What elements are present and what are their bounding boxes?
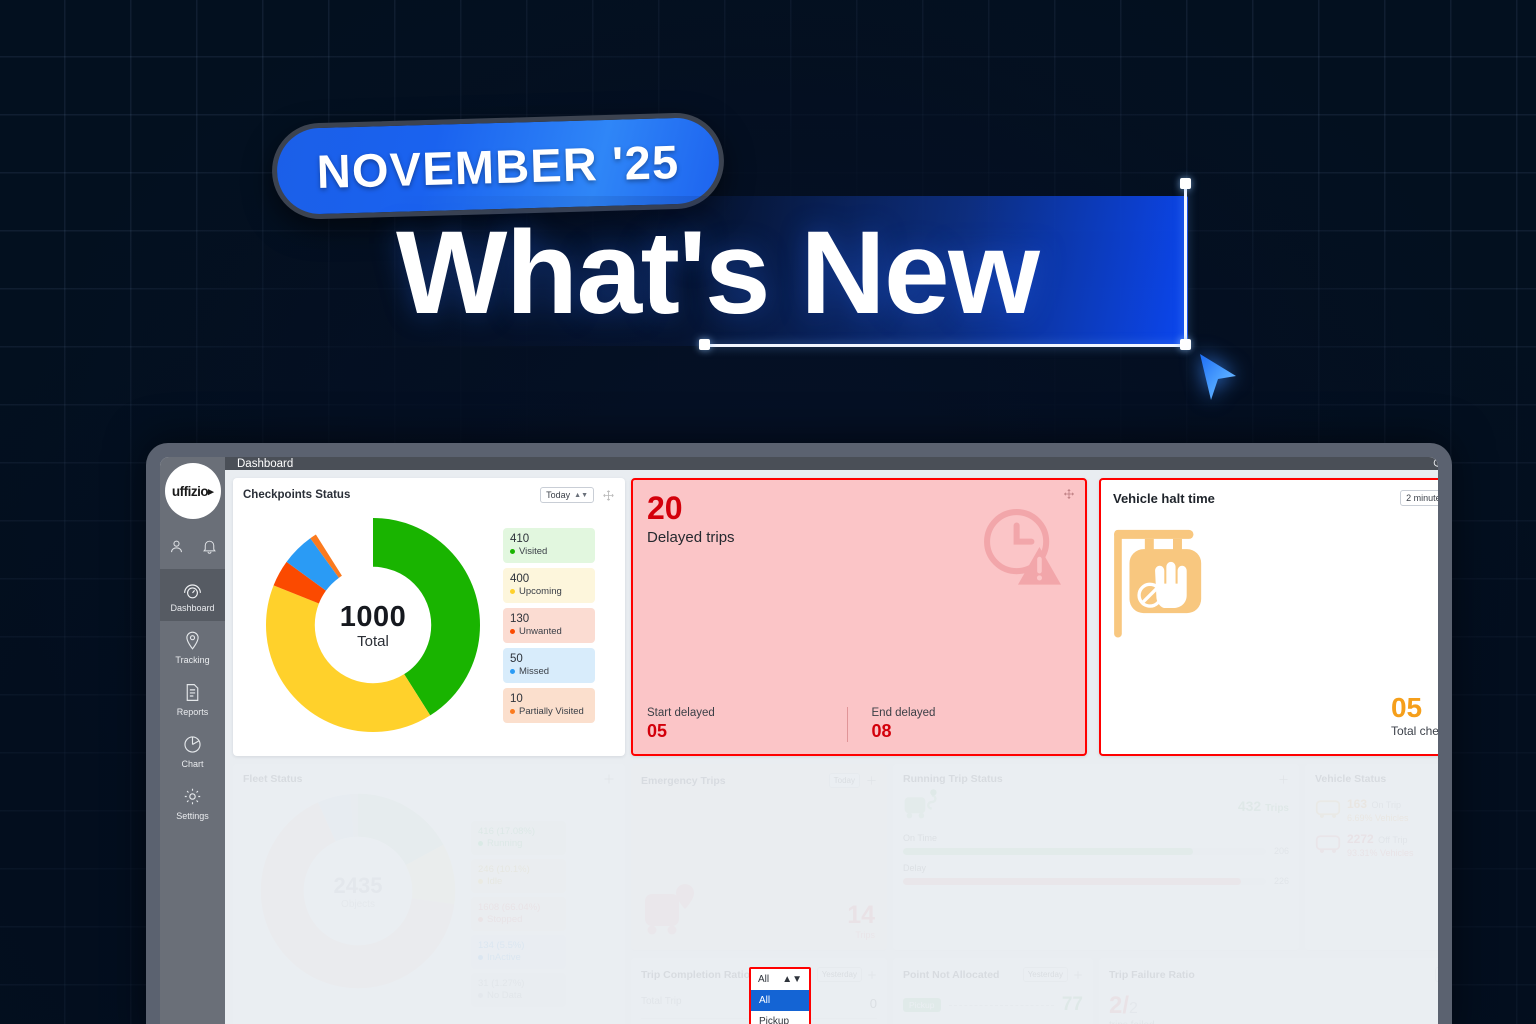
bus-alert-icon [641,882,705,942]
panel-point-not-allocated: Point Not Allocated Yesterday Pickup 77 [893,958,1093,1024]
topbar-icons [1432,457,1438,470]
legend-label: Stopped [487,914,522,925]
legend-value: 400 [510,573,588,585]
running-total-unit: Trips [1265,803,1289,814]
sidebar-item-chart[interactable]: Chart [160,725,225,777]
legend-item-no-data[interactable]: 31 (1.27%) No Data [471,973,566,1007]
sidebar-item-label: Dashboard [170,603,214,613]
brand-logo-text: uffizio [172,484,208,499]
dropdown-selected-value: All [758,974,769,985]
legend-label: Upcoming [519,586,562,597]
move-handle-icon[interactable] [602,489,615,502]
end-delayed-value: 08 [872,721,1062,742]
start-delayed-block: Start delayed 05 [647,707,847,742]
panel-running-trip-status: Running Trip Status 432 [893,764,1299,950]
pna-range-select[interactable]: Yesterday [1023,967,1068,982]
legend-label-row: Visited [510,546,588,557]
bus-off-trip-icon [1315,834,1341,854]
panel-header: Emergency Trips Today [641,773,877,788]
legend-item-stopped[interactable]: 1608 (66.04%) Stopped [471,897,566,931]
move-handle-icon[interactable] [1073,970,1083,980]
gear-icon [182,786,203,807]
emergency-trips-value: 14 [847,901,875,930]
off-trip-value: 2272 [1347,832,1374,846]
legend-item-unwanted[interactable]: 130 Unwanted [503,608,595,643]
on-time-value: 206 [1274,846,1289,856]
bus-on-trip-icon [1315,799,1341,819]
legend-label-row: Partially Visited [510,706,588,717]
bus-route-icon [903,789,951,823]
legend-color-dot [510,629,515,634]
selection-handle-bottom-left[interactable] [699,339,710,350]
donut-center-label: 1000 Total [257,516,489,734]
panel-fleet-status: Fleet Status [233,764,625,1024]
app-sidebar: uffizio▸ Dashboard [160,457,225,1024]
tcr-total-value: 0 [870,996,877,1011]
halt-duration-select[interactable]: 2 minutes ▲▼ [1400,490,1438,506]
sidebar-item-tracking[interactable]: Tracking [160,621,225,673]
bell-icon[interactable] [201,538,218,555]
legend-item-partially-visited[interactable]: 10 Partially Visited [503,688,595,723]
panel-emergency-trips: Emergency Trips Today 14 [631,764,887,950]
move-handle-icon[interactable] [1063,488,1075,500]
pointer-cursor-icon [1196,352,1242,404]
app-content: Dashboard [225,457,1438,1024]
on-trip-label: On Trip [1371,800,1401,810]
panel-title: Trip Completion Ratio [641,969,750,981]
legend-color-dot [510,589,515,594]
legend-label: Visited [519,546,547,557]
start-delayed-label: Start delayed [647,707,837,719]
legend-color-dot [478,879,483,884]
sidebar-item-dashboard[interactable]: Dashboard [160,569,225,621]
halt-duration-value: 2 minutes [1406,493,1438,503]
panel-trip-failure-ratio: Trip Failure Ratio Yesterday 2/2 trips f… [1099,958,1438,1024]
panel-title: Point Not Allocated [903,969,999,981]
app-screen: uffizio▸ Dashboard [160,457,1438,1024]
stop-hand-sign-icon [1109,512,1237,640]
tcr-total-label: Total Trip [641,996,682,1011]
clock-warning-icon [979,504,1065,590]
fleet-total-value: 2435 [334,873,383,899]
sidebar-item-label: Tracking [175,655,209,665]
legend-value: 416 (17.08%) [478,826,559,837]
legend-item-missed[interactable]: 50 Missed [503,648,595,683]
legend-label: InActive [487,952,521,963]
dropdown-selected-field[interactable]: All ▲▼ [751,969,809,990]
tcr-range-value: Yesterday [822,970,857,979]
sidebar-item-label: Chart [181,759,203,769]
panel-header: Checkpoints Status Today ▲▼ [243,487,615,503]
panel-header: Running Trip Status [903,773,1289,785]
running-total-value: 432 [1238,798,1261,814]
emergency-trips-unit: Trips [847,930,875,940]
legend-label: Running [487,838,522,849]
panel-header: Point Not Allocated Yesterday [903,967,1083,982]
legend-color-dot [478,955,483,960]
user-icon[interactable] [168,538,185,555]
tfr-ratio-denominator: 2 [1129,1000,1138,1017]
checkpoints-range-select[interactable]: Today ▲▼ [540,487,594,503]
legend-value: 10 [510,693,588,705]
off-trip-pct: 93.31% Vehicles [1347,848,1438,858]
dropdown-option-all[interactable]: All [751,990,809,1011]
move-handle-icon[interactable] [866,775,877,786]
selection-frame-right-edge [1184,182,1187,346]
off-trip-label: Off Trip [1378,835,1407,845]
brand-logo: uffizio▸ [165,463,221,519]
halt-count-label: Total checkpoints [1391,724,1438,738]
month-badge-label: NOVEMBER '25 [316,133,680,198]
halt-body: 05 Total checkpoints [1113,506,1438,744]
legend-label: Partially Visited [519,706,584,717]
panel-vehicle-halt-time: Vehicle halt time 2 minutes ▲▼ [1099,478,1438,756]
panel-checkpoints-status: Checkpoints Status Today ▲▼ [233,478,625,756]
move-handle-icon[interactable] [867,970,877,980]
halt-count-value: 05 [1391,694,1438,722]
tfr-caption: trips failed [1109,1020,1438,1024]
legend-color-dot [510,669,515,674]
whats-new-title-block: What's New [392,196,1188,346]
app-topbar: Dashboard [225,457,1438,470]
speedometer-icon [182,578,203,599]
hero-section: NOVEMBER '25 What's New [0,0,1536,440]
panel-header: Vehicle halt time 2 minutes ▲▼ [1113,490,1438,506]
breadcrumb: Dashboard [237,458,293,470]
panel-title: Fleet Status [243,773,303,785]
legend-value: 1608 (66.04%) [478,902,559,913]
on-trip-value: 163 [1347,797,1367,811]
checkpoints-body: 1000 Total 410 Visited [243,503,615,747]
panel-title: Running Trip Status [903,773,1003,785]
sidebar-item-reports[interactable]: Reports [160,673,225,725]
legend-item-idle[interactable]: 246 (10.1%) Idle [471,859,566,893]
legend-color-dot [510,709,515,714]
legend-value: 246 (10.1%) [478,864,559,875]
dropdown-option-pickup[interactable]: Pickup [751,1011,809,1024]
legend-value: 134 (5.5%) [478,940,559,951]
panel-title: Vehicle halt time [1113,491,1215,506]
dashboard-grid: Checkpoints Status Today ▲▼ [225,470,1438,1024]
fleet-donut-center: 2435 Objects [253,791,463,991]
checkpoints-type-dropdown[interactable]: All ▲▼ All Pickup Drop [749,967,811,1024]
legend-value: 130 [510,613,588,625]
legend-value: 31 (1.27%) [478,978,559,989]
legend-item-upcoming[interactable]: 400 Upcoming [503,568,595,603]
move-handle-icon[interactable] [1278,774,1289,785]
end-delayed-block: End delayed 08 [847,707,1072,742]
laptop-frame: uffizio▸ Dashboard [146,443,1452,1024]
pna-value: 77 [1062,994,1083,1016]
fleet-donut-chart: 2435 Objects [253,791,463,991]
search-icon[interactable] [1432,457,1438,470]
emergency-range-select[interactable]: Today [829,773,860,788]
pna-pickup-badge: Pickup [903,998,941,1012]
panel-delayed-trips: 20 Delayed trips Start delayed 05 End de… [631,478,1087,756]
legend-color-dot [478,841,483,846]
screenshot-root: NOVEMBER '25 What's New [0,0,1536,1024]
start-delayed-value: 05 [647,721,837,742]
panel-header: Vehicle Status [1315,773,1438,785]
legend-value: 50 [510,653,588,665]
legend-label: Unwanted [519,626,562,637]
panel-title: Emergency Trips [641,775,726,787]
delay-label: Delay [903,863,1289,873]
legend-label: Missed [519,666,549,677]
legend-color-dot [478,917,483,922]
emergency-range-value: Today [834,776,855,785]
move-handle-icon[interactable] [603,773,615,785]
halt-count-block: 05 Total checkpoints [1391,694,1438,738]
legend-color-dot [510,549,515,554]
legend-value: 410 [510,533,588,545]
panel-header: Fleet Status [243,773,615,785]
end-delayed-label: End delayed [872,707,1062,719]
panel-title: Checkpoints Status [243,489,350,501]
chevron-updown-icon: ▲▼ [574,492,588,499]
panel-vehicle-status: Vehicle Status 163 On Trip 6.69% Vehicle… [1305,764,1438,950]
delay-value: 226 [1274,876,1289,886]
tfr-ratio-numerator: 2/ [1109,992,1129,1019]
chevron-updown-icon: ▲▼ [782,974,802,985]
legend-item-visited[interactable]: 410 Visited [503,528,595,563]
document-icon [182,682,203,703]
sidebar-item-settings[interactable]: Settings [160,777,225,829]
tcr-range-select[interactable]: Yesterday [817,967,862,982]
legend-color-dot [478,993,483,998]
sidebar-item-label: Settings [176,811,209,821]
legend-label-row: Unwanted [510,626,588,637]
on-trip-pct: 6.69% Vehicles [1347,813,1409,823]
legend-label: Idle [487,876,502,887]
legend-item-inactive[interactable]: 134 (5.5%) InActive [471,935,566,969]
checkpoints-legend: 410 Visited 400 [503,528,595,723]
legend-item-running[interactable]: 416 (17.08%) Running [471,821,566,855]
sidebar-item-label: Reports [177,707,209,717]
fleet-total-label: Objects [341,899,375,910]
page-title: What's New [396,198,1176,348]
donut-total-label: Total [357,633,389,650]
selection-handle-bottom-right[interactable] [1180,339,1191,350]
donut-total-value: 1000 [340,601,407,634]
on-time-label: On Time [903,833,1289,843]
panel-title: Vehicle Status [1315,773,1386,785]
sidebar-top-icons [168,538,218,555]
tfr-range-select[interactable]: Yesterday [1435,967,1438,982]
checkpoints-range-value: Today [546,490,570,500]
delayed-trips-breakdown: Start delayed 05 End delayed 08 [647,707,1071,742]
checkpoints-donut-chart: 1000 Total [257,516,489,734]
pie-chart-icon [182,734,203,755]
dropdown-options-list: All Pickup Drop [751,990,809,1024]
legend-label: No Data [487,990,522,1001]
pna-range-value: Yesterday [1028,970,1063,979]
fleet-legend: 416 (17.08%) Running 246 (10.1%) Idle 16… [471,821,566,1007]
selection-frame-bottom-edge [704,344,1186,347]
selection-handle-top-right[interactable] [1180,178,1191,189]
legend-label-row: Missed [510,666,588,677]
location-pin-icon [182,630,203,651]
panel-title: Trip Failure Ratio [1109,969,1195,981]
panel-header: Trip Failure Ratio Yesterday [1109,967,1438,982]
legend-label-row: Upcoming [510,586,588,597]
